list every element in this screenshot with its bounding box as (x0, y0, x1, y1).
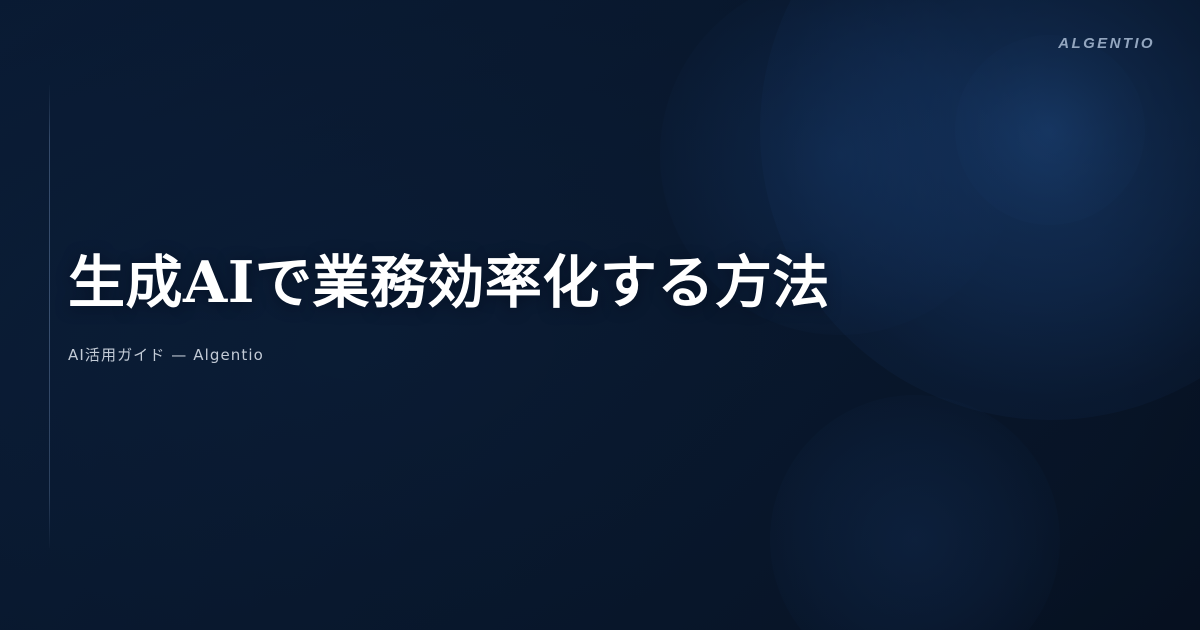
title-slide: ALGENTIO 生成AIで業務効率化する方法 AI活用ガイド — Algent… (0, 0, 1200, 630)
background-glow-inner-highlight (955, 35, 1145, 225)
brand-logo: ALGENTIO (1058, 36, 1155, 51)
left-accent-rule (49, 85, 50, 548)
page-subtitle: AI活用ガイド — Algentio (68, 344, 1068, 365)
title-block: 生成AIで業務効率化する方法 AI活用ガイド — Algentio (68, 248, 1068, 365)
background-glow-tertiary (770, 395, 1060, 630)
page-title: 生成AIで業務効率化する方法 (68, 248, 1068, 318)
